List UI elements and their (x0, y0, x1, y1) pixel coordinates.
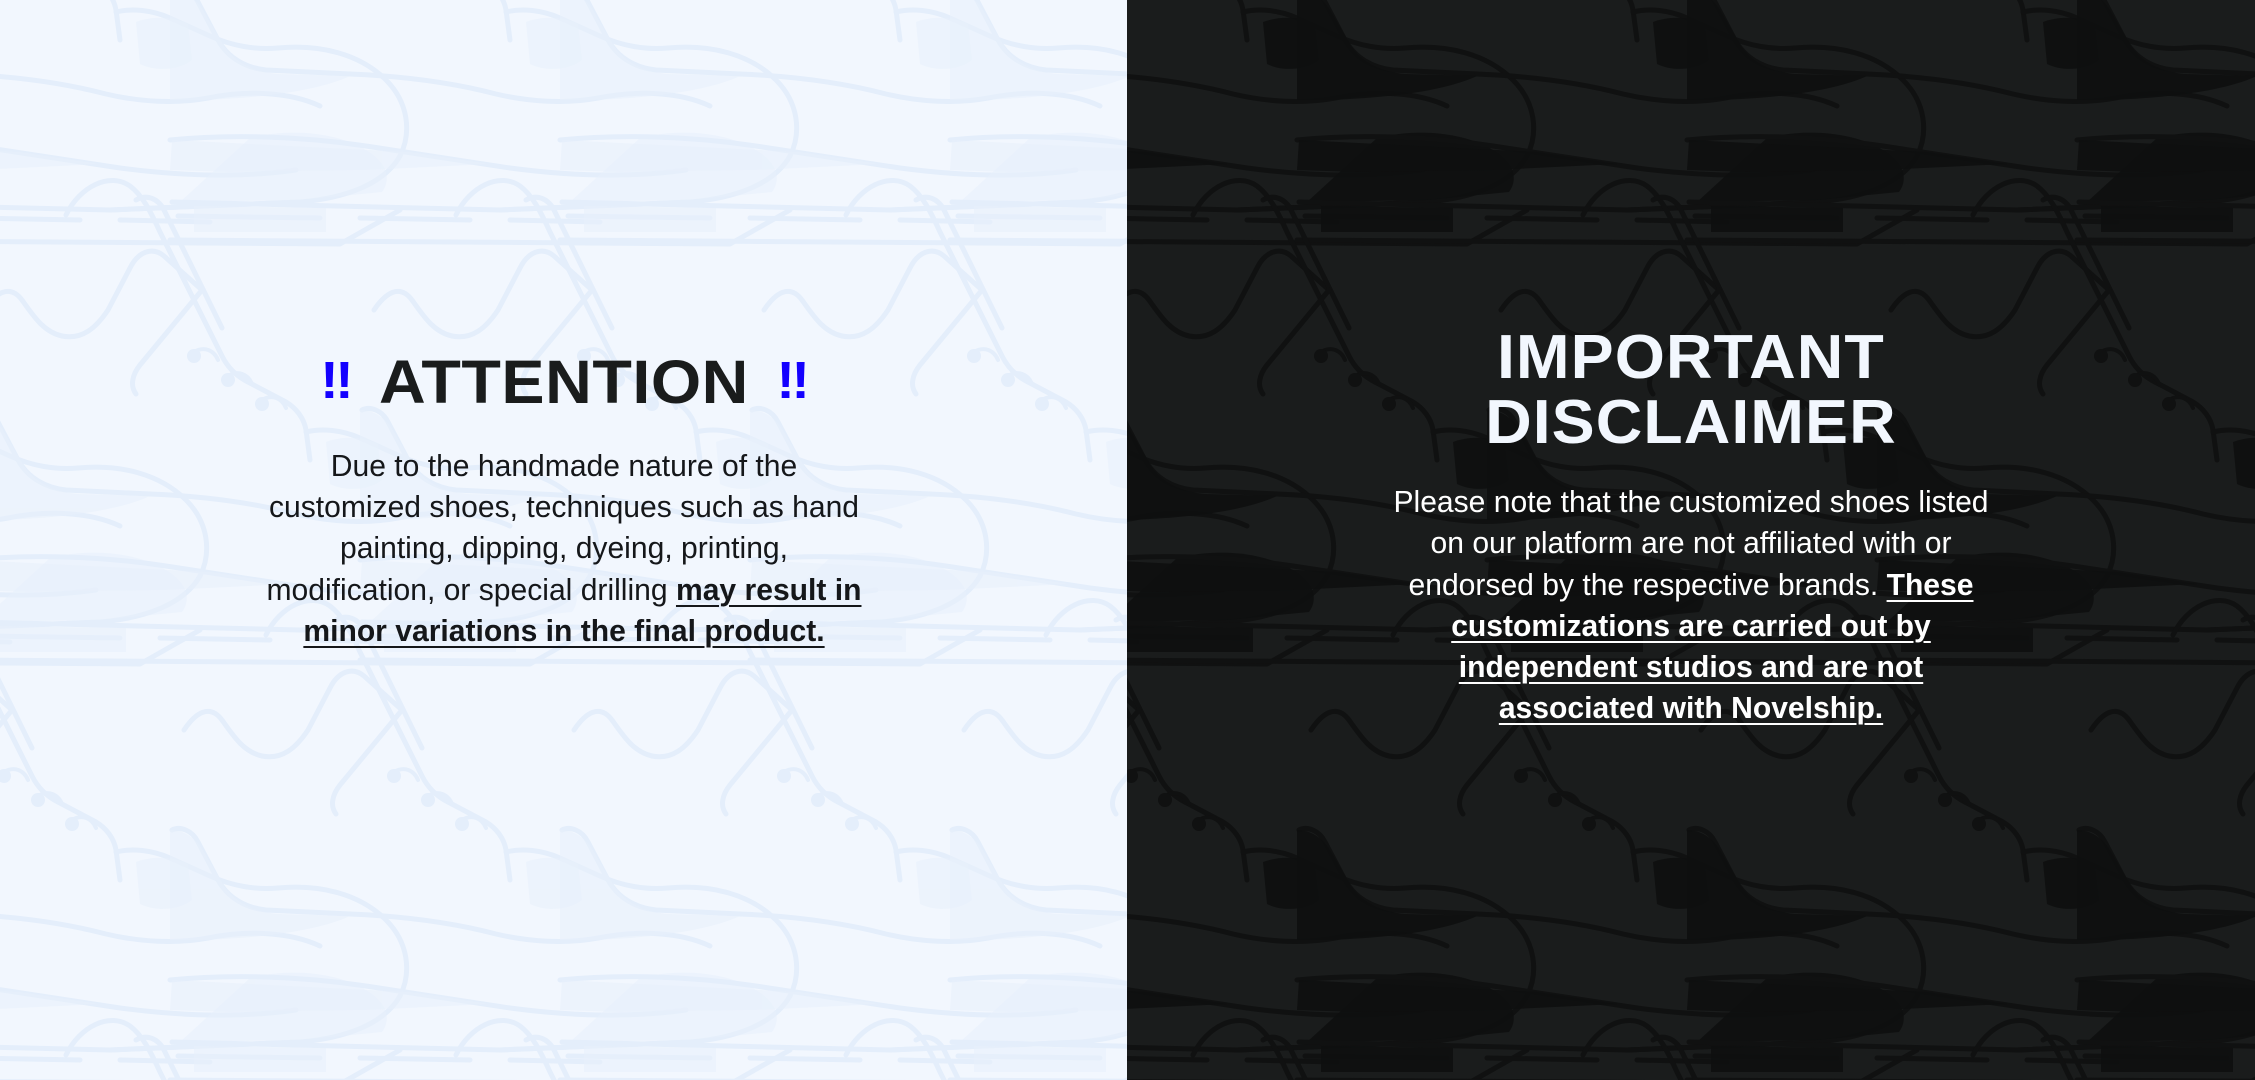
attention-body: Due to the handmade nature of the custom… (263, 445, 864, 651)
attention-panel: ‼ ATTENTION ‼ Due to the handmade nature… (0, 0, 1127, 1080)
attention-heading-text: ATTENTION (379, 352, 749, 413)
disclaimer-heading-line1: IMPORTANT (1485, 325, 1897, 390)
disclaimer-heading: IMPORTANT DISCLAIMER (1485, 325, 1897, 455)
attention-content: ‼ ATTENTION ‼ Due to the handmade nature… (0, 0, 1127, 651)
disclaimer-content: IMPORTANT DISCLAIMER Please note that th… (1127, 0, 2255, 729)
double-exclamation-icon-left: ‼ (320, 355, 351, 407)
attention-heading: ‼ ATTENTION ‼ (320, 352, 807, 413)
disclaimer-panel: IMPORTANT DISCLAIMER Please note that th… (1127, 0, 2255, 1080)
disclaimer-heading-line2: DISCLAIMER (1485, 390, 1897, 455)
disclaimer-body: Please note that the customized shoes li… (1381, 481, 2002, 728)
disclaimer-banner: ‼ ATTENTION ‼ Due to the handmade nature… (0, 0, 2255, 1080)
double-exclamation-icon-right: ‼ (776, 355, 807, 407)
